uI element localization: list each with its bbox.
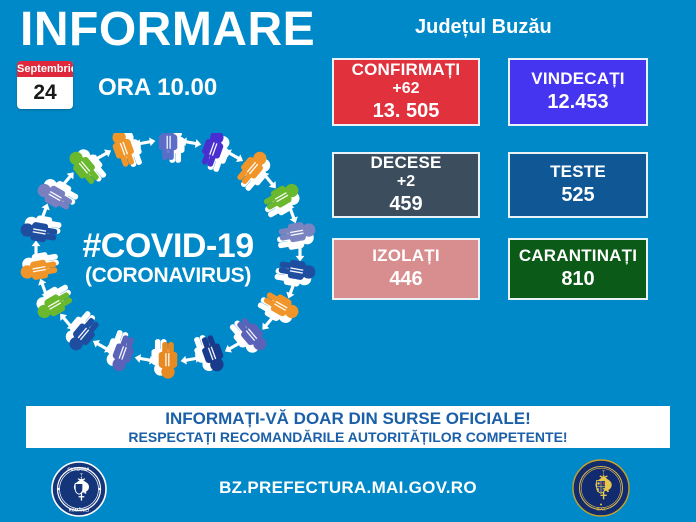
people-ring [18, 133, 318, 379]
covid-information-poster: INFORMARE Județul Buzău Septembrie 24 OR… [0, 0, 696, 522]
stat-label-vindecati: VINDECAȚI [531, 69, 624, 89]
svg-text:ROMÂNIEI: ROMÂNIEI [69, 507, 89, 512]
stat-value-izolati: 446 [389, 266, 422, 292]
stat-label-confirmati: CONFIRMAȚI [352, 60, 461, 80]
person-icon [226, 313, 271, 360]
stat-box-vindecati: VINDECAȚI 12.453 [508, 58, 648, 126]
calendar-day-label: 24 [17, 77, 73, 109]
person-icon [65, 143, 110, 190]
person-icon [108, 133, 146, 171]
ministerul-afacerilor-interne-emblem-icon: M.A.I. [572, 459, 630, 517]
message-line-2: RESPECTAȚI RECOMANDĂRILE AUTORITĂȚILOR C… [128, 429, 567, 446]
person-icon [232, 147, 277, 194]
stat-label-teste: TESTE [550, 162, 606, 182]
svg-text:M.A.I.: M.A.I. [596, 508, 605, 512]
person-icon [159, 133, 185, 163]
stat-box-teste: TESTE 525 [508, 152, 648, 218]
county-subtitle: Județul Buzău [415, 16, 552, 39]
stat-box-confirmati: CONFIRMAȚI +62 13. 505 [332, 58, 480, 126]
stat-label-decese: DECESE [370, 153, 441, 173]
person-icon [34, 173, 81, 215]
stat-label-izolati: IZOLAȚI [372, 246, 440, 266]
stat-box-decese: DECESE +2 459 [332, 152, 480, 218]
person-icon [255, 287, 302, 329]
stat-value-decese: 459 [389, 191, 422, 217]
stat-delta-confirmati: +62 [392, 80, 419, 98]
stat-box-carantinati: CARANTINAȚI 810 [508, 238, 648, 300]
message-line-1: INFORMAȚI-VĂ DOAR DIN SURSE OFICIALE! [165, 409, 531, 429]
person-icon [59, 308, 104, 355]
social-distancing-circle-graphic [18, 133, 318, 385]
calendar-month-label: Septembrie [17, 61, 73, 77]
stat-label-carantinati: CARANTINAȚI [519, 246, 637, 266]
svg-text:GUVERNUL: GUVERNUL [68, 467, 91, 472]
stat-value-teste: 525 [561, 182, 594, 208]
person-icon [18, 250, 61, 282]
page-title: INFORMARE [20, 2, 315, 58]
calendar-icon: Septembrie 24 [17, 61, 73, 109]
hour-label: ORA 10.00 [98, 74, 217, 102]
person-icon [259, 179, 306, 221]
stat-value-vindecati: 12.453 [547, 89, 608, 115]
person-icon [190, 331, 228, 377]
person-icon [275, 220, 318, 252]
stat-value-carantinati: 810 [561, 266, 594, 292]
person-icon [30, 281, 77, 323]
person-icon [151, 339, 177, 378]
official-sources-message-bar: INFORMAȚI-VĂ DOAR DIN SURSE OFICIALE! RE… [26, 406, 670, 448]
stat-delta-decese: +2 [397, 173, 415, 191]
stat-value-confirmati: 13. 505 [373, 98, 440, 124]
stat-box-izolati: IZOLAȚI 446 [332, 238, 480, 300]
